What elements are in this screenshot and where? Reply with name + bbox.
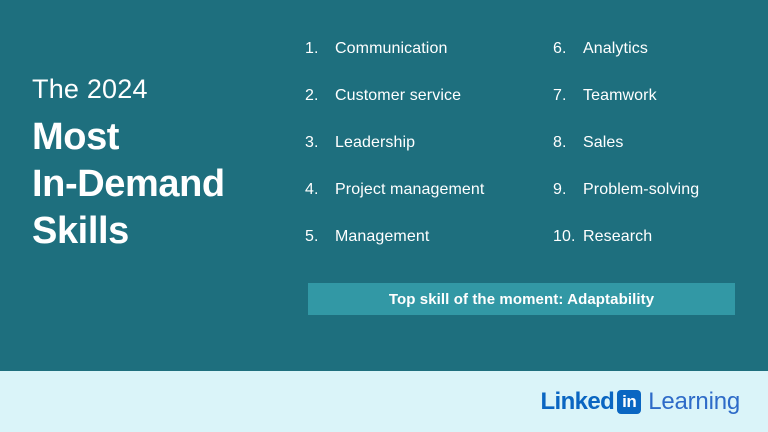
title-main: Most In-Demand Skills <box>32 114 282 255</box>
list-item-number: 5. <box>305 228 335 246</box>
title-line-1: Most <box>32 114 282 161</box>
list-item: 5. Management <box>305 228 545 275</box>
list-item-label: Research <box>583 228 652 246</box>
list-item: 9. Problem-solving <box>553 181 758 228</box>
list-item-number: 9. <box>553 181 583 199</box>
list-item-number: 3. <box>305 134 335 152</box>
linkedin-learning-logo: Linked in Learning <box>540 388 740 416</box>
poster-canvas: The 2024 Most In-Demand Skills 1. Commun… <box>0 0 768 432</box>
list-item-number: 6. <box>553 40 583 58</box>
list-item-number: 2. <box>305 87 335 105</box>
list-item-number: 1. <box>305 40 335 58</box>
list-item: 2. Customer service <box>305 87 545 134</box>
list-item-label: Leadership <box>335 134 415 152</box>
list-item: 4. Project management <box>305 181 545 228</box>
list-item: 8. Sales <box>553 134 758 181</box>
list-item-label: Customer service <box>335 87 461 105</box>
list-item: 6. Analytics <box>553 40 758 87</box>
title-line-3: Skills <box>32 208 282 255</box>
list-item: 1. Communication <box>305 40 545 87</box>
list-item-label: Sales <box>583 134 624 152</box>
list-item-number: 10. <box>553 228 583 246</box>
list-item: 7. Teamwork <box>553 87 758 134</box>
top-skill-banner: Top skill of the moment: Adaptability <box>308 283 735 315</box>
skills-list-right: 6. Analytics 7. Teamwork 8. Sales 9. Pro… <box>553 40 758 275</box>
footer-bar: Linked in Learning <box>0 371 768 432</box>
logo-wordmark: Linked <box>540 388 614 416</box>
list-item-number: 7. <box>553 87 583 105</box>
list-item: 10. Research <box>553 228 758 275</box>
list-item-label: Communication <box>335 40 447 58</box>
top-skill-banner-text: Top skill of the moment: Adaptability <box>389 291 654 308</box>
list-item-label: Management <box>335 228 429 246</box>
list-item-label: Analytics <box>583 40 648 58</box>
list-item-number: 8. <box>553 134 583 152</box>
title-line-2: In-Demand <box>32 161 282 208</box>
logo-sub-brand: Learning <box>648 388 740 416</box>
list-item-label: Teamwork <box>583 87 657 105</box>
list-item-label: Project management <box>335 181 484 199</box>
list-item-label: Problem-solving <box>583 181 699 199</box>
list-item-number: 4. <box>305 181 335 199</box>
linkedin-in-icon: in <box>617 390 641 414</box>
title-kicker: The 2024 <box>32 72 282 106</box>
skills-list-left: 1. Communication 2. Customer service 3. … <box>305 40 545 275</box>
page-title: The 2024 Most In-Demand Skills <box>32 72 282 255</box>
list-item: 3. Leadership <box>305 134 545 181</box>
